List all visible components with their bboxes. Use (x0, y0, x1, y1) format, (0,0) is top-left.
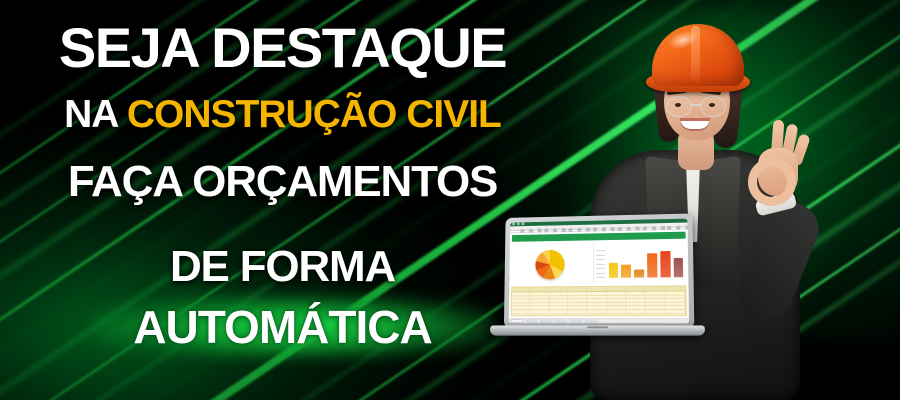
table-cell (549, 303, 568, 306)
table-cell (587, 296, 606, 299)
y-axis-tick (596, 259, 605, 260)
charts-row (511, 241, 686, 285)
laptop-device (490, 215, 705, 350)
bar-chart-bar (647, 253, 657, 277)
table-cell (587, 292, 606, 295)
eye-left (675, 103, 681, 107)
table-cell (587, 303, 606, 306)
headline-block: SEJA DESTAQUE NA CONSTRUÇÃO CIVIL FAÇA O… (0, 0, 565, 400)
table-cell (626, 299, 646, 302)
table-cell (607, 310, 626, 313)
promo-banner: SEJA DESTAQUE NA CONSTRUÇÃO CIVIL FAÇA O… (0, 0, 900, 400)
table-cell (512, 296, 531, 299)
table-cell (549, 292, 568, 295)
table-cell (549, 307, 568, 310)
bar-chart-bars (608, 250, 683, 278)
spreadsheet-body (509, 230, 689, 319)
table-cell (607, 299, 626, 302)
y-axis-tick (596, 268, 605, 269)
laptop-lid (504, 213, 694, 328)
table-cell (512, 310, 531, 313)
sheet-tab[interactable] (554, 319, 567, 323)
table-cell (666, 303, 686, 306)
sheet-tab[interactable] (584, 319, 597, 323)
table-cell (607, 314, 627, 317)
table-cell (666, 314, 686, 317)
sheet-tab[interactable] (540, 319, 553, 323)
data-table (511, 285, 687, 316)
headline-line-2-prefix: NA (64, 93, 127, 136)
table-cell (568, 310, 587, 313)
table-cell (626, 295, 646, 298)
table-cell (665, 295, 685, 298)
pie-chart (511, 242, 590, 284)
headline-line-3: FAÇA ORÇAMENTOS (0, 158, 565, 206)
table-cell (531, 296, 550, 299)
table-cell (512, 307, 531, 310)
table-cell (666, 310, 686, 313)
ok-hand-gesture (746, 118, 808, 200)
table-cell (646, 310, 666, 313)
table-cell (626, 306, 646, 309)
table-cell (512, 303, 531, 306)
table-cell (666, 299, 686, 302)
table-cell (587, 299, 606, 302)
y-axis-tick (596, 250, 605, 251)
bar-chart-bar (660, 251, 670, 277)
table-cell (549, 296, 568, 299)
y-axis-tick (596, 277, 605, 278)
eyeglasses-bridge (690, 104, 700, 106)
table-cell (587, 310, 606, 313)
table-cell (646, 306, 666, 309)
table-cell (568, 314, 587, 316)
table-cell (626, 292, 646, 295)
table-cell (568, 306, 587, 309)
table-cell (568, 296, 587, 299)
table-cell (530, 314, 549, 316)
table-cell (587, 306, 606, 309)
laptop-screen (509, 219, 689, 324)
table-cell (646, 299, 666, 302)
table-cell (568, 299, 587, 302)
table-cell (646, 295, 666, 298)
table-cell (646, 303, 666, 306)
y-axis-tick (596, 254, 605, 255)
bar-chart-bar (621, 264, 631, 278)
sheet-tab[interactable] (525, 319, 538, 323)
table-cell (549, 299, 568, 302)
sheet-tab[interactable] (511, 319, 524, 323)
table-cell (530, 307, 549, 310)
eye-right (709, 103, 715, 107)
table-cell (626, 314, 646, 317)
y-axis-tick (596, 272, 605, 273)
table-cell (531, 303, 550, 306)
laptop-base (490, 325, 706, 335)
headline-line-1: SEJA DESTAQUE (0, 18, 565, 78)
ok-ring-thumb-index (748, 158, 796, 206)
table-cell (549, 314, 568, 316)
table-cell (531, 292, 550, 295)
table-cell (607, 306, 626, 309)
table-cell (512, 314, 531, 316)
table-row (512, 314, 686, 317)
table-cell (568, 292, 587, 295)
table-cell (646, 314, 666, 317)
headline-line-2-accent: CONSTRUÇÃO CIVIL (127, 93, 501, 136)
bar-chart (593, 241, 686, 284)
table-cell (665, 291, 685, 294)
headline-line-5: AUTOMÁTICA (0, 302, 565, 352)
bar-chart-bar (608, 263, 618, 278)
table-cell (607, 295, 626, 298)
headline-line-4: DE FORMA (0, 243, 565, 291)
table-cell (607, 303, 626, 306)
table-cell (530, 310, 549, 313)
table-cell (646, 292, 666, 295)
bar-chart-y-axis (596, 250, 607, 278)
table-cell (568, 303, 587, 306)
pie-chart-circle (536, 250, 565, 280)
table-cell (666, 306, 686, 309)
table-cell (512, 292, 531, 295)
table-cell (587, 314, 606, 316)
sheet-tab-strip[interactable] (509, 318, 689, 323)
table-cell (626, 310, 646, 313)
table-cell (531, 299, 550, 302)
person-figure (560, 0, 900, 400)
sheet-tab[interactable] (569, 319, 582, 323)
table-cell (607, 292, 626, 295)
y-axis-tick (596, 263, 605, 264)
table-cell (626, 303, 646, 306)
bar-chart-bar (634, 269, 644, 277)
table-cell (549, 310, 568, 313)
headline-line-2: NA CONSTRUÇÃO CIVIL (0, 94, 565, 136)
table-cell (512, 299, 531, 302)
bar-chart-bar (673, 257, 683, 277)
